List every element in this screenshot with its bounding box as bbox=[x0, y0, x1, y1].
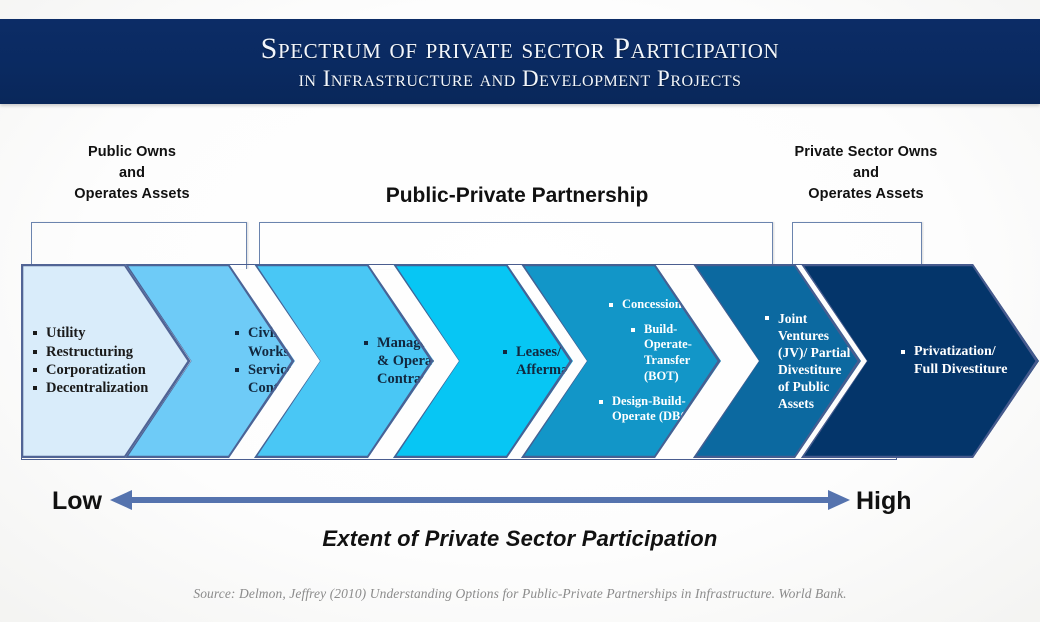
source-citation: Source: Delmon, Jeffrey (2010) Understan… bbox=[0, 586, 1040, 602]
group-label-ppp: Public-Private Partnership bbox=[262, 184, 772, 208]
bracket-public bbox=[31, 222, 247, 269]
axis-caption: Extent of Private Sector Participation bbox=[0, 526, 1040, 552]
bracket-private bbox=[792, 222, 922, 269]
group-label-public-line2: and bbox=[46, 163, 218, 184]
axis-arrow bbox=[110, 488, 850, 512]
stage-item: Corporatization bbox=[33, 361, 191, 379]
stage-item: Civil Works bbox=[235, 324, 309, 361]
group-label-ppp-line1: Public-Private Partnership bbox=[262, 184, 772, 208]
title-band: Spectrum of private sector Participation… bbox=[0, 19, 1040, 104]
bracket-ppp bbox=[259, 222, 773, 269]
stage-item: Affermage bbox=[503, 361, 582, 379]
double-arrow-icon bbox=[110, 488, 850, 512]
stage-item: Transfer (BOT) bbox=[631, 353, 721, 385]
stage-item: Privatization/ bbox=[901, 343, 1039, 361]
stage-item: Full Divestiture bbox=[901, 361, 1039, 379]
page-title-line1: Spectrum of private sector Participation bbox=[261, 32, 780, 65]
chevron-band: Utility Restructuring Corporatization De… bbox=[21, 264, 1019, 458]
group-label-private-line3: Operates Assets bbox=[760, 184, 972, 205]
stage-item: Utility bbox=[33, 324, 191, 342]
stage-item: Decentralization bbox=[33, 379, 191, 397]
group-label-private-line2: and bbox=[760, 163, 972, 184]
group-label-public-line3: Operates Assets bbox=[46, 184, 218, 205]
axis-high-label: High bbox=[856, 487, 912, 516]
stage-item: Design-Build- bbox=[599, 394, 721, 410]
stage-item: & Operating bbox=[364, 352, 458, 370]
stage-item: Build-Operate- bbox=[631, 322, 721, 354]
stage-item: Restructuring bbox=[33, 343, 191, 361]
group-label-public-owns: Public Owns and Operates Assets bbox=[46, 142, 218, 205]
stage-item: Divestiture bbox=[765, 361, 861, 378]
group-label-private-owns: Private Sector Owns and Operates Assets bbox=[760, 142, 972, 205]
group-label-private-line1: Private Sector Owns bbox=[760, 142, 972, 163]
slide-canvas: Spectrum of private sector Participation… bbox=[0, 0, 1040, 622]
group-label-public-line1: Public Owns bbox=[46, 142, 218, 163]
stage-item: Service bbox=[235, 361, 309, 379]
stage-item: Concessions bbox=[609, 297, 721, 313]
stage-item: Leases/ bbox=[503, 343, 582, 361]
page-title-line2: in Infrastructure and Development Projec… bbox=[299, 65, 742, 92]
stage-item: Operate (DBO) bbox=[599, 409, 721, 425]
stage-item: (JV)/ Partial bbox=[765, 344, 861, 361]
axis-low-label: Low bbox=[52, 487, 102, 516]
